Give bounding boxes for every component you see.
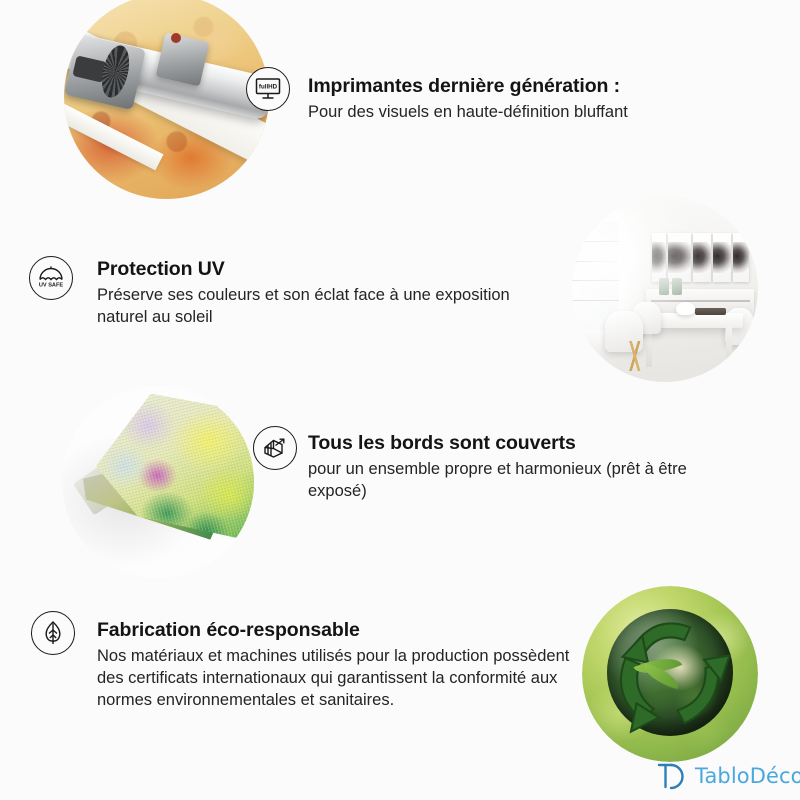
feature-heading-covered-edges: Tous les bords sont couverts <box>308 431 728 456</box>
feature-eco-manufacturing-text: Fabrication éco-responsable Nos matériau… <box>97 618 587 712</box>
feature-body-print-quality: Pour des visuels en haute-définition blu… <box>308 102 728 124</box>
tablodeco-logo[interactable]: TabloDéco ™ .fr <box>655 756 795 796</box>
canvas-edge-wrap-icon <box>253 426 297 470</box>
feature-body-eco-manufacturing: Nos matériaux et machines utilisés pour … <box>97 646 587 712</box>
feature-heading-eco-manufacturing: Fabrication éco-responsable <box>97 618 587 643</box>
feature-heading-print-quality: Imprimantes dernière génération : <box>308 74 728 99</box>
feature-print-quality-text: Imprimantes dernière génération : Pour d… <box>308 74 728 124</box>
feature-uv-protection-text: Protection UV Préserve ses couleurs et s… <box>97 257 527 329</box>
infographic-canvas: fullHD Imprimantes dernière génération :… <box>0 0 800 800</box>
canvas-corner-colorful-photo <box>62 386 254 578</box>
uv-safe-label: UV SAFE <box>39 283 64 289</box>
fullhd-label: fullHD <box>259 84 278 91</box>
uv-safe-umbrella-icon: UV SAFE <box>29 256 73 300</box>
leaf-icon <box>31 611 75 655</box>
logo-wordmark: TabloDéco <box>695 766 800 787</box>
td-monogram-icon <box>655 760 689 792</box>
green-earth-recycling-photo <box>582 586 758 762</box>
feature-body-covered-edges: pour un ensemble propre et harmonieux (p… <box>308 459 728 503</box>
feature-heading-uv-protection: Protection UV <box>97 257 527 282</box>
feature-body-uv-protection: Préserve ses couleurs et son éclat face … <box>97 285 527 329</box>
bright-dining-room-wall-art-photo <box>572 196 758 382</box>
printer-roller-world-map-photo <box>64 0 269 199</box>
fullhd-monitor-icon: fullHD <box>246 67 290 111</box>
feature-covered-edges-text: Tous les bords sont couverts pour un ens… <box>308 431 728 503</box>
